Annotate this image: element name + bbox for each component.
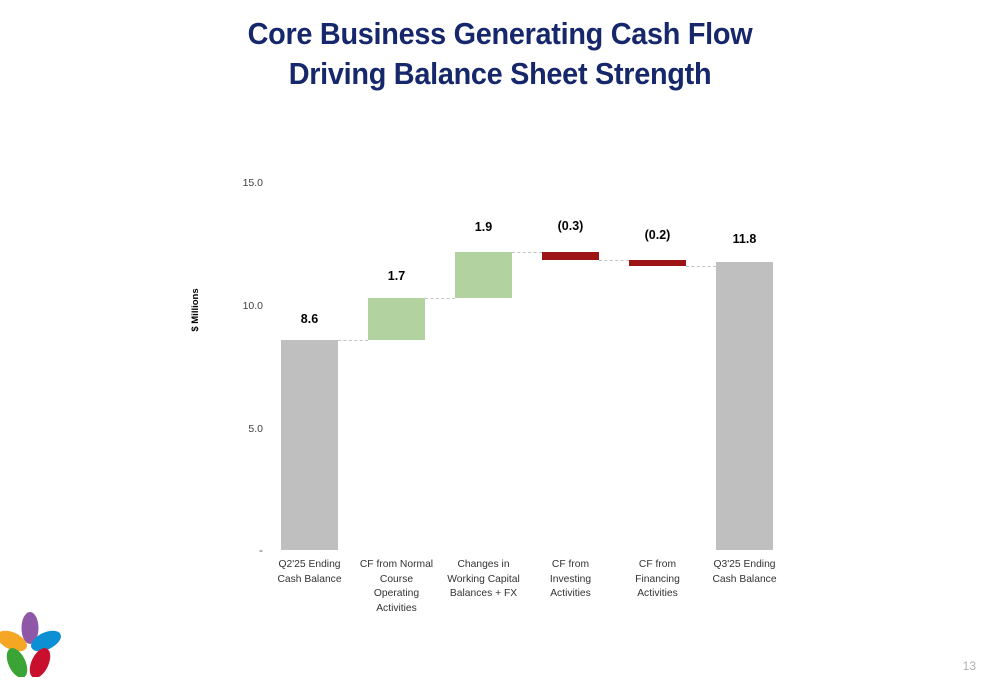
petal-flower-logo [0,611,68,677]
bar-cf-financing-activities [629,260,686,266]
y-tick-5: 5.0 [215,423,263,435]
y-tick-0: - [215,543,263,557]
bar-changes-working-capital [455,252,512,298]
y-tick-10: 10.0 [215,300,263,312]
value-label-6: 11.8 [716,232,773,246]
bar-cf-investing-activities [542,252,599,260]
x-category-5-line-3: Activities [608,587,707,602]
bar-q225-ending-cash-balance [281,340,338,550]
x-category-label-6: Q3'25 Ending Cash Balance [693,558,796,587]
value-label-1: 8.6 [281,312,338,326]
y-tick-15: 15.0 [215,177,263,189]
connector-1 [338,340,368,341]
connector-4 [599,260,629,261]
waterfall-chart: $ Millions 15.0 10.0 5.0 - 8.6 1.7 1.9 (… [0,0,1000,685]
connector-3 [512,252,542,253]
x-category-4-line-3: Activities [521,587,620,602]
x-category-6-line-1: Q3'25 Ending [693,558,796,573]
value-label-2: 1.7 [368,269,425,283]
value-label-3: 1.9 [455,220,512,234]
bar-q325-ending-cash-balance [716,262,773,550]
x-category-4-line-1: CF from [521,558,620,573]
x-category-6-line-2: Cash Balance [693,573,796,588]
bar-cf-operating-activities [368,298,425,340]
x-category-label-4: CF from Investing Activities [521,558,620,602]
x-category-4-line-2: Investing [521,573,620,588]
connector-5 [686,266,716,267]
value-label-4: (0.3) [538,219,603,233]
connector-2 [425,298,455,299]
page-number: 13 [963,659,976,673]
x-category-2-line-4: Activities [344,602,449,617]
y-axis-title: $ Millions [190,265,201,355]
value-label-5: (0.2) [625,228,690,242]
